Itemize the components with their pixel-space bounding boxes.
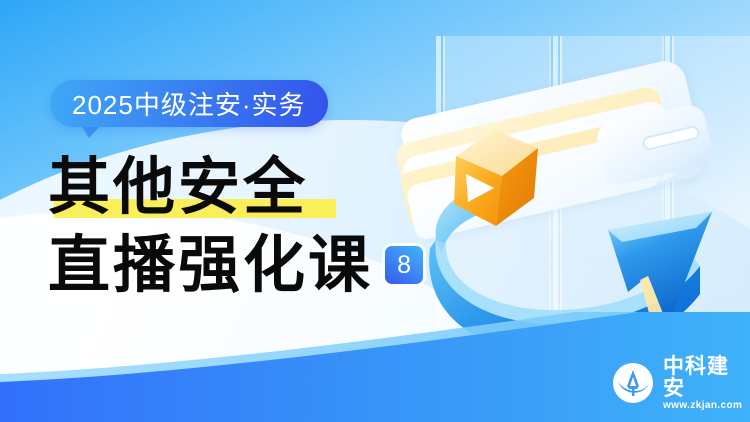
episode-number-badge: 8 bbox=[385, 246, 423, 284]
brand-logo: 中科建安 www.zkjan.com bbox=[612, 355, 750, 411]
headline-line-1: 其他安全 bbox=[48, 148, 423, 226]
course-tag-badge: 2025中级注安·实务 bbox=[50, 80, 328, 127]
episode-number-label: 8 bbox=[397, 253, 411, 278]
orange-play-cube-icon bbox=[452, 126, 556, 230]
headline-line-1-wrap: 其他安全 bbox=[48, 148, 423, 226]
headline-block: 其他安全 直播强化课 8 bbox=[48, 148, 423, 304]
zkjan-circle-logo-icon bbox=[612, 362, 654, 404]
brand-text-block: 中科建安 www.zkjan.com bbox=[663, 355, 750, 411]
brand-company-name: 中科建安 bbox=[663, 355, 750, 399]
headline-line-2: 直播强化课 bbox=[48, 226, 373, 304]
headline-line-2-wrap: 直播强化课 8 bbox=[48, 226, 423, 304]
course-tag-label: 2025中级注安·实务 bbox=[72, 85, 306, 122]
promo-banner: 2025中级注安·实务 其他安全 直播强化课 8 中科建安 www.zkjan.… bbox=[0, 0, 750, 422]
hero-illustration bbox=[400, 88, 750, 348]
brand-website-url: www.zkjan.com bbox=[663, 401, 750, 411]
